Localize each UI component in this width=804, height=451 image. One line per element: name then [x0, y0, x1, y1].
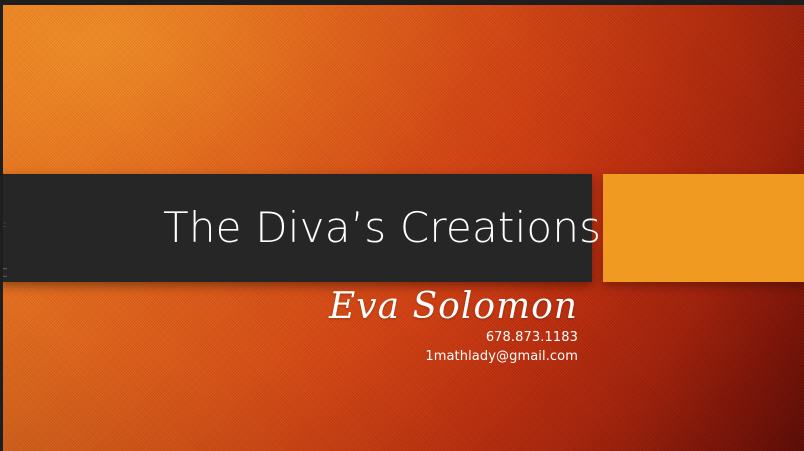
accent-rectangle: [603, 174, 804, 282]
slide-title: The Diva’s Creations: [0, 207, 601, 249]
slide-border-top: [0, 0, 804, 5]
subtitle-block[interactable]: Eva Solomon 678.873.1183 1mathlady@gmail…: [150, 286, 578, 366]
slide-border-left: [0, 0, 3, 451]
presentation-slide: The Diva’s Creations t F C Eva Solomon 6…: [0, 0, 804, 451]
contact-email: 1mathlady@gmail.com: [150, 347, 578, 366]
contact-phone: 678.873.1183: [150, 328, 578, 347]
title-band[interactable]: The Diva’s Creations: [0, 174, 592, 282]
author-name: Eva Solomon: [150, 286, 578, 328]
